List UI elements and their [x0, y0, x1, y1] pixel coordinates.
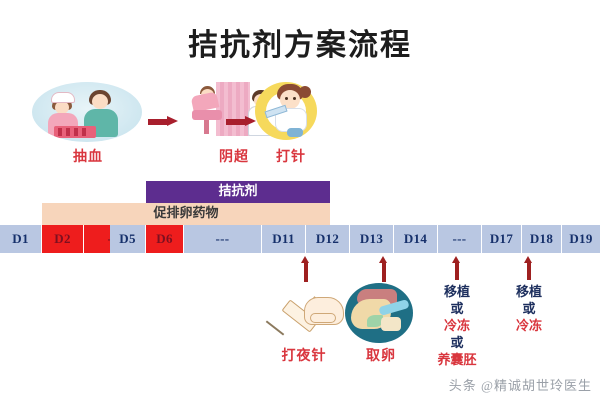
option-line: 冷冻 [499, 317, 559, 334]
option-line: 移植 [427, 283, 487, 300]
annotation-egg-retrieval: 取卵 [345, 283, 417, 365]
antagonist-bar-label: 拮抗剂 [218, 183, 257, 198]
option-line: 或 [427, 300, 487, 317]
annotation-options-d17: 移植 或 冷冻 或 养囊胚 [427, 283, 487, 368]
day-timeline: D1 D2 --- D5 D6 --- D11 D12 D13 D14 --- … [0, 225, 600, 253]
syringe-icon [258, 283, 350, 345]
day-label: --- [216, 231, 230, 247]
day-cell[interactable]: D1 [0, 225, 42, 253]
day-cell[interactable]: D5 [110, 225, 146, 253]
day-label: D19 [569, 231, 592, 247]
step-label: 抽血 [32, 146, 144, 166]
annotation-label: 取卵 [345, 345, 417, 365]
day-label: D13 [360, 231, 383, 247]
day-cell[interactable]: D12 [306, 225, 350, 253]
day-label: D1 [12, 231, 29, 247]
day-label: D2 [54, 231, 71, 247]
day-cell[interactable]: D17 [482, 225, 522, 253]
arrow-step2-step3 [226, 116, 256, 127]
antagonist-bar: 拮抗剂 [146, 181, 330, 203]
day-cell[interactable]: D18 [522, 225, 562, 253]
pointer-arrow-d12 [301, 256, 310, 282]
day-label: D18 [530, 231, 553, 247]
day-label: --- [453, 231, 467, 247]
annotation-label: 打夜针 [258, 345, 350, 365]
pointer-arrow-d17 [452, 256, 461, 280]
day-cell[interactable]: D2 [42, 225, 84, 253]
day-cell[interactable]: D11 [262, 225, 306, 253]
step-blood-draw: 抽血 [32, 82, 144, 166]
day-cell[interactable]: D14 [394, 225, 438, 253]
egg-retrieval-icon [345, 283, 417, 345]
infographic-canvas: 拮抗剂方案流程 [0, 0, 600, 400]
annotation-trigger-shot: 打夜针 [258, 283, 350, 365]
step-injection: 打针 [255, 82, 327, 166]
stimulation-bar: 促排卵药物 [42, 203, 330, 225]
day-cell[interactable]: D6 [146, 225, 184, 253]
day-label: D17 [490, 231, 513, 247]
day-cell[interactable]: --- [438, 225, 482, 253]
injection-icon [255, 82, 327, 144]
option-line: 养囊胚 [427, 351, 487, 368]
day-label: D14 [404, 231, 427, 247]
step-label: 打针 [255, 146, 327, 166]
option-line: 或 [499, 300, 559, 317]
annotation-options-d19: 移植 或 冷冻 [499, 283, 559, 334]
day-label: D11 [272, 231, 295, 247]
process-steps-row: 抽血 阴超 [0, 82, 600, 172]
day-cell[interactable]: --- [184, 225, 262, 253]
stimulation-bar-label: 促排卵药物 [153, 205, 218, 220]
day-cell[interactable]: D13 [350, 225, 394, 253]
watermark: 头条 @精诚胡世玲医生 [449, 375, 592, 394]
pointer-arrow-d19 [524, 256, 533, 280]
arrow-step1-step2 [148, 116, 178, 127]
option-line: 或 [427, 334, 487, 351]
pointer-arrow-d14 [379, 256, 388, 282]
page-title: 拮抗剂方案流程 [0, 20, 600, 64]
blood-draw-icon [32, 82, 144, 144]
day-label: D6 [156, 231, 173, 247]
day-label: D5 [119, 231, 136, 247]
option-line: 冷冻 [427, 317, 487, 334]
option-line: 移植 [499, 283, 559, 300]
day-label: D12 [316, 231, 339, 247]
day-cell[interactable]: D19 [562, 225, 600, 253]
